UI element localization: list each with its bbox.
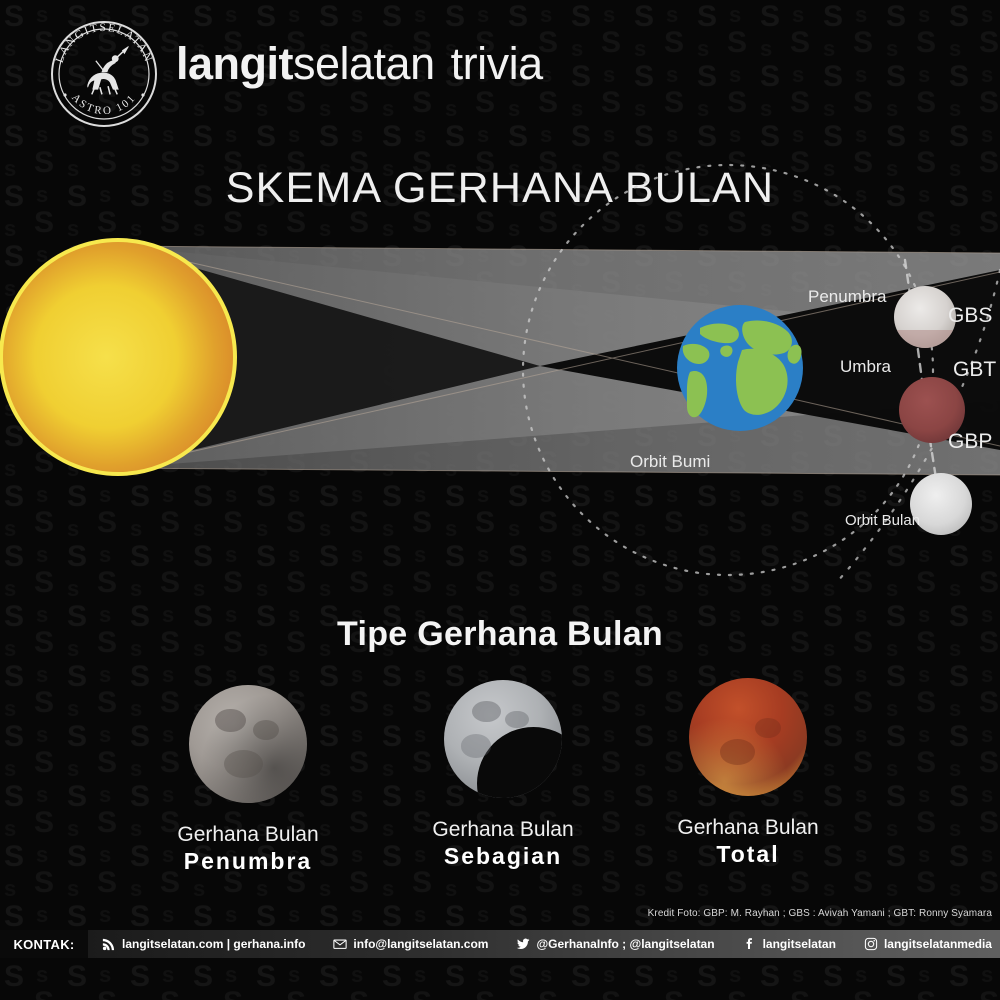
svg-text:ASTRO 101: ASTRO 101 [69, 92, 138, 118]
type-card-total: Gerhana Bulan Total [633, 678, 863, 869]
brand-bold: langit [176, 38, 293, 89]
contact-facebook[interactable]: langitselatan [729, 937, 850, 951]
penumbral-moon-image [189, 685, 307, 803]
tag-gbs: GBS [948, 304, 992, 328]
brand-wordmark: langitselatantrivia [176, 38, 543, 90]
tag-gbp: GBP [948, 430, 992, 454]
svg-text:LANGITSELATAN: LANGITSELATAN [54, 22, 155, 65]
total-blood-moon-image [689, 678, 807, 796]
infographic-root: LANGITSELATAN ASTRO 101 [0, 0, 1000, 1000]
facebook-icon [743, 937, 757, 951]
tag-gbt: GBT [953, 358, 996, 382]
label-orbit-bulan: Orbit Bulan [845, 512, 920, 529]
brand-suffix: trivia [451, 38, 543, 89]
earth [677, 305, 803, 431]
photo-credit: Kredit Foto: GBP: M. Rayhan ; GBS : Aviv… [648, 908, 992, 919]
type-sebagian-line1: Gerhana Bulan [388, 818, 618, 842]
label-penumbra: Penumbra [808, 287, 886, 307]
type-total-line2: Total [633, 840, 863, 869]
contact-twitter-text: @GerhanaInfo ; @langitselatan [536, 937, 714, 951]
type-penumbra-line2: Penumbra [133, 847, 363, 876]
type-sebagian-line2: Sebagian [388, 842, 618, 871]
contact-website-text: langitselatan.com | gerhana.info [122, 937, 305, 951]
type-card-penumbra: Gerhana Bulan Penumbra [133, 685, 363, 876]
instagram-icon [864, 937, 878, 951]
twitter-icon [516, 937, 530, 951]
label-umbra: Umbra [840, 357, 891, 377]
envelope-icon [333, 937, 347, 951]
types-section-title: Tipe Gerhana Bulan [0, 615, 1000, 654]
brand-light: selatan [293, 38, 435, 89]
contact-instagram[interactable]: langitselatanmedia [850, 937, 1000, 951]
sun [0, 239, 236, 475]
contact-email[interactable]: info@langitselatan.com [319, 937, 502, 951]
langitselatan-logo: LANGITSELATAN ASTRO 101 [48, 18, 160, 130]
type-penumbra-line1: Gerhana Bulan [133, 823, 363, 847]
contact-bar: KONTAK: langitselatan.com | gerhana.info… [0, 930, 1000, 958]
header: LANGITSELATAN ASTRO 101 [0, 0, 1000, 140]
kontak-label: KONTAK: [0, 930, 88, 958]
contact-facebook-text: langitselatan [763, 937, 836, 951]
type-total-line1: Gerhana Bulan [633, 816, 863, 840]
contact-items: langitselatan.com | gerhana.info info@la… [88, 930, 1000, 958]
contact-instagram-text: langitselatanmedia [884, 937, 992, 951]
type-card-sebagian: Gerhana Bulan Sebagian [388, 680, 618, 871]
contact-twitter[interactable]: @GerhanaInfo ; @langitselatan [502, 937, 728, 951]
partial-moon-image [444, 680, 562, 798]
label-orbit-bumi: Orbit Bumi [630, 452, 710, 472]
contact-email-text: info@langitselatan.com [353, 937, 488, 951]
contact-website[interactable]: langitselatan.com | gerhana.info [88, 937, 319, 951]
rss-icon [102, 937, 116, 951]
